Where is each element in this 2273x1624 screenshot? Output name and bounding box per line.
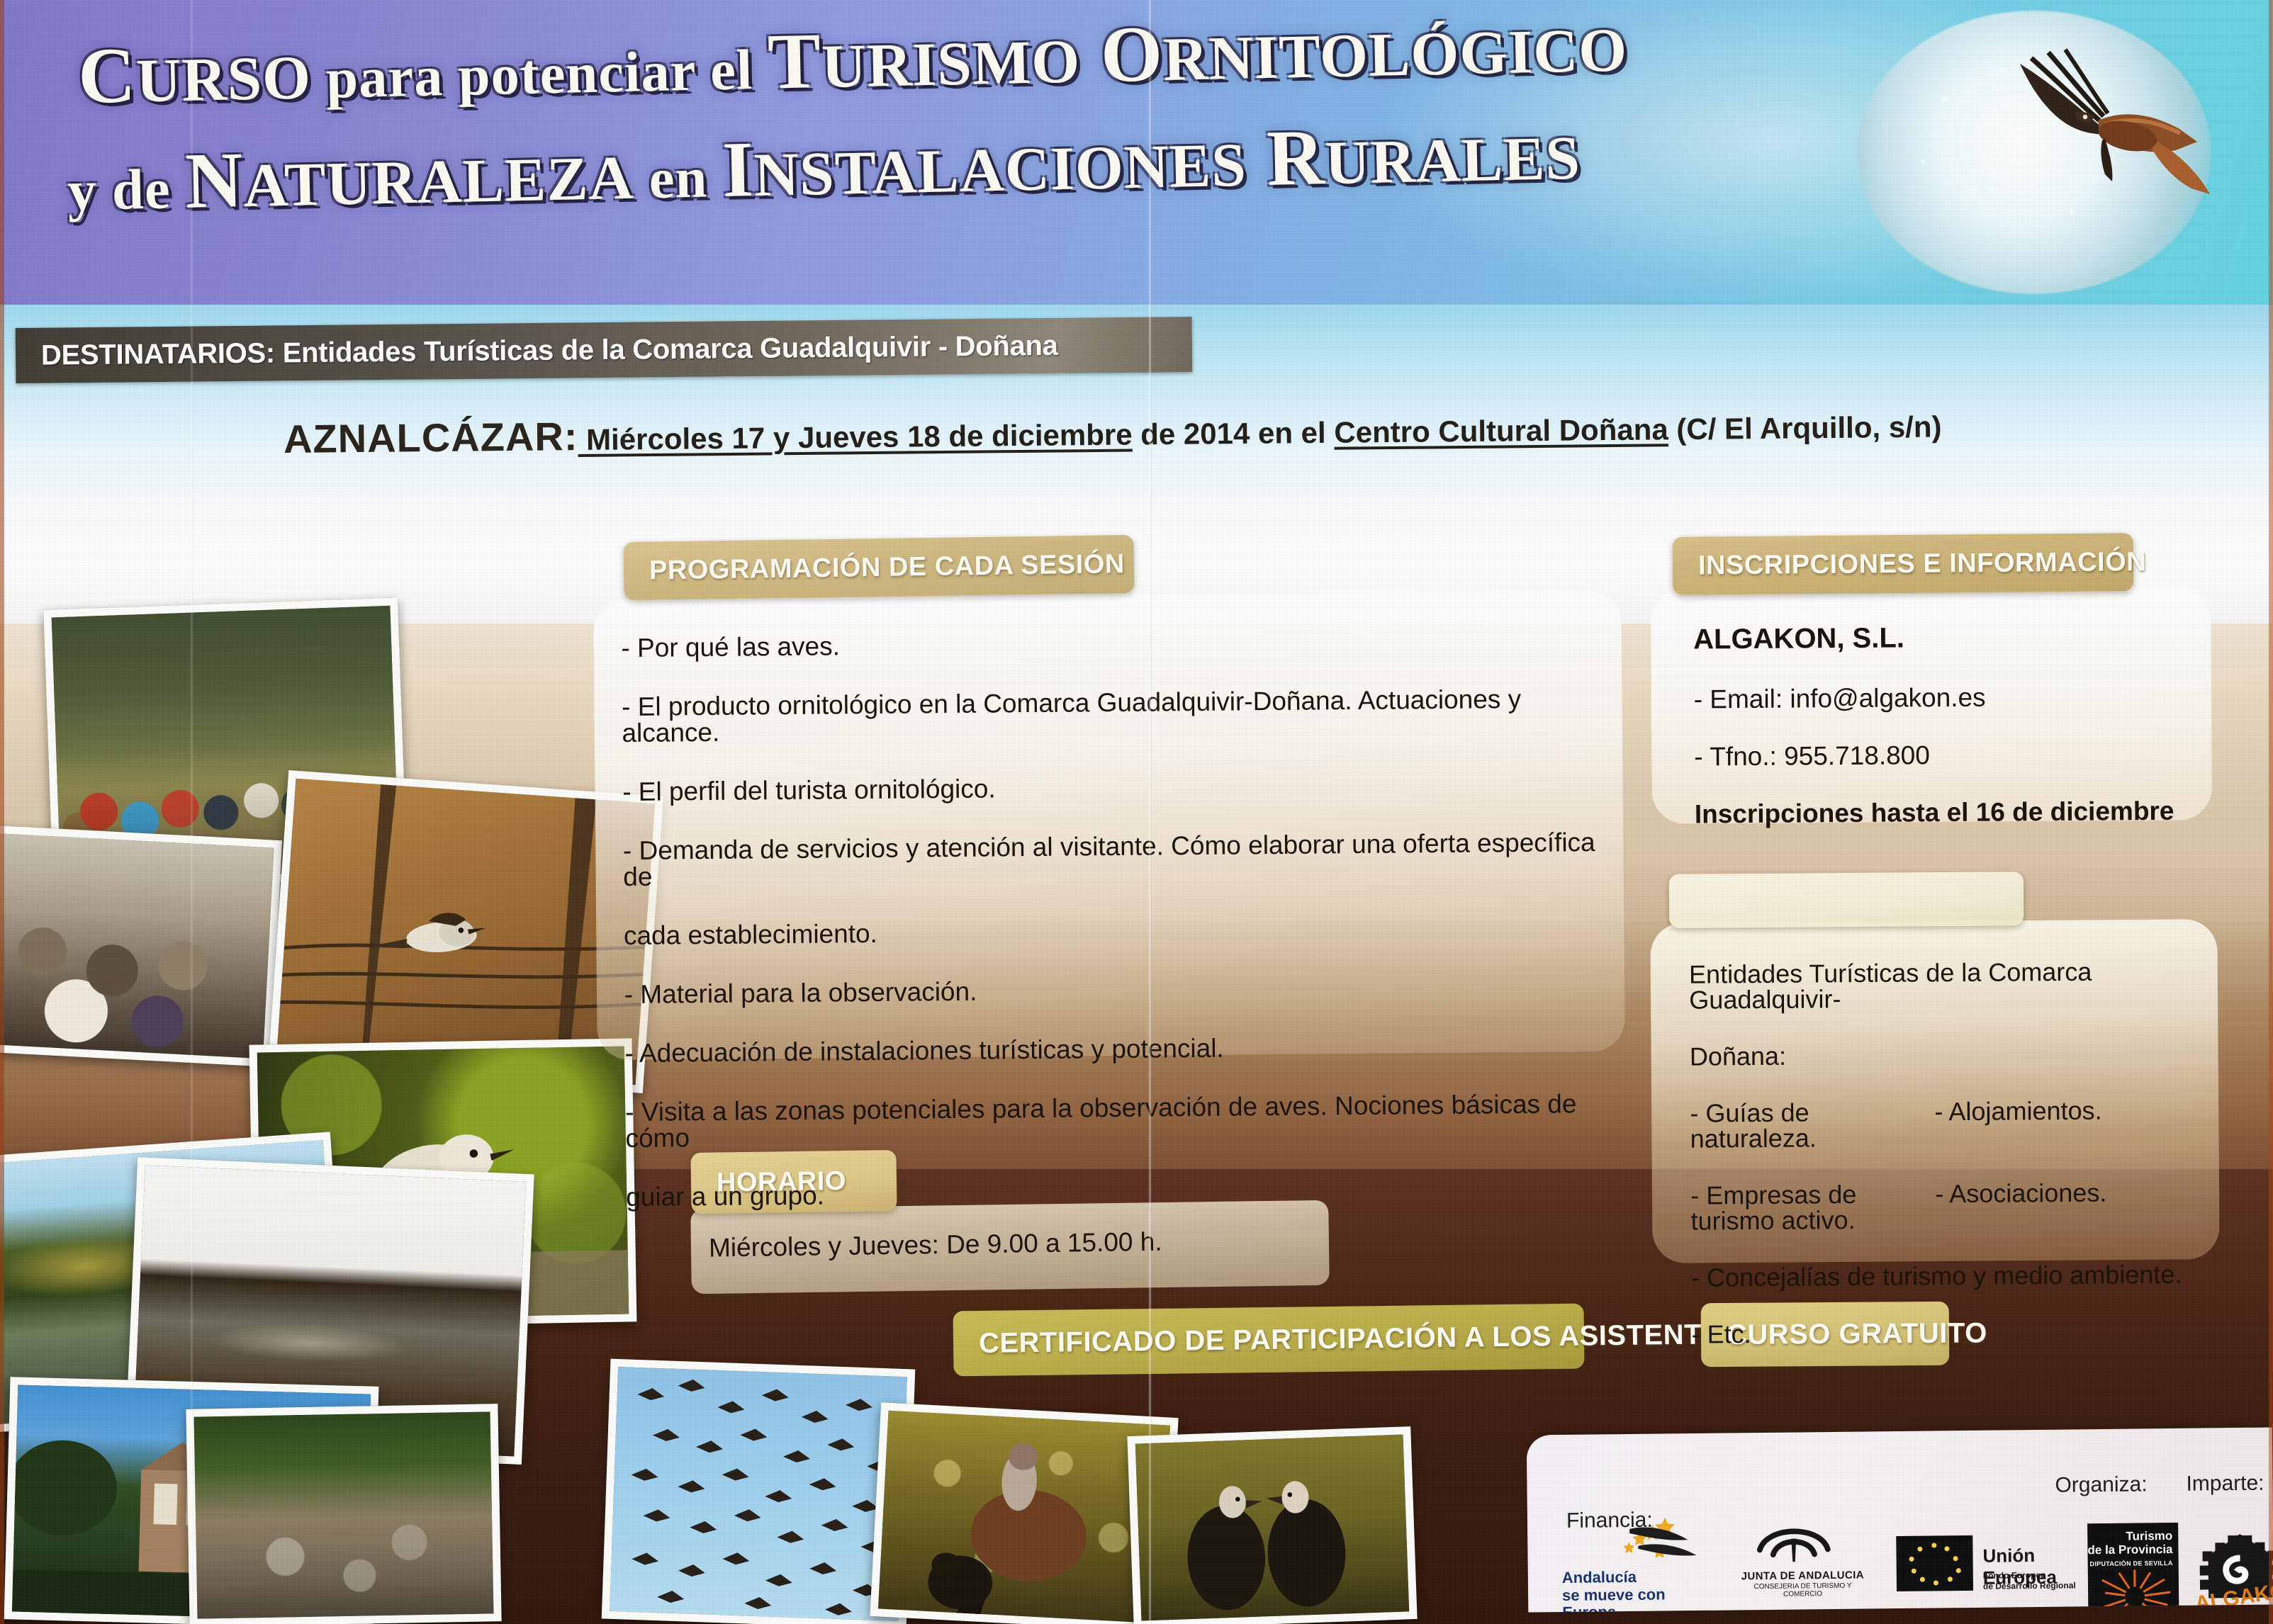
scan-edge-left [0,0,4,1624]
programacion-header-label: PROGRAMACIÓN DE CADA SESIÓN [624,549,1125,587]
junta-de-andalucia-logo: JUNTA DE ANDALUCIA CONSEJERIA DE TURISMO… [1740,1531,1865,1603]
poster-title: CURSO para potenciar el TURISMO ORNITOLÓ… [0,14,2055,207]
entidades-item: - Alojamientos. [1934,1098,2102,1151]
dateline-colon: : [563,414,578,458]
programacion-item: - Material para la observación. [624,973,1603,1008]
andalucia-se-mueve-con-europa-logo: Andalucía se mueve con Europa [1561,1540,1714,1605]
entidades-row: - Empresas de turismo activo. - Asociaci… [1690,1179,2229,1234]
dateline-address: (C/ El Arquillo, s/n) [1668,410,1941,446]
turismo-logo-line-3: DIPUTACIÓN DE SEVILLA [2089,1560,2172,1567]
union-europea-logo: Unión Europea Fondo Europeo de Desarroll… [1896,1528,2088,1601]
entidades-item: - Etc. [1692,1318,2230,1347]
turismo-logo-line-1: Turismo [2126,1529,2172,1543]
entidades-item: - Concejalías de turismo y medio ambient… [1691,1261,2230,1290]
programacion-item: - Adecuación de instalaciones turísticas… [624,1032,1603,1066]
junta-logo-line-2: CONSEJERIA DE TURISMO Y COMERCIO [1753,1582,1851,1598]
inscripciones-header-label: INSCRIPCIONES E INFORMACIÓN [1673,547,2146,582]
union-europea-sub-2: de Desarrollo Regional [1983,1580,2076,1591]
andalucia-logo-line-2: se mueve con Europa [1562,1585,1666,1612]
programacion-item-cont: cada establecimiento. [624,914,1602,949]
scan-edge-right [2269,0,2273,1624]
entidades-intro-line-2: Doñana: [1690,1040,2228,1069]
dateline-city: AZNALCÁZAR [284,414,564,461]
programacion-header: PROGRAMACIÓN DE CADA SESIÓN [623,535,1134,600]
dateline-dates: Miércoles 17 y Jueves 18 de diciembre [578,418,1133,457]
turismo-logo-line-2: de la Provincia [2087,1543,2172,1557]
dateline-connector: en el [1250,416,1335,450]
organiza-label: Organiza: [2055,1472,2147,1497]
algakon-logo: ALGAKON [2187,1526,2273,1612]
title-line-1: CURSO para potenciar el TURISMO ORNITOLÓ… [0,0,2056,121]
entidades-row: - Guías de naturaleza. - Alojamientos. [1690,1097,2228,1151]
inscripciones-deadline: Inscripciones hasta el 16 de diciembre [1695,797,2205,827]
destinatarios-text: DESTINATARIOS: Entidades Turísticas de l… [16,329,1058,371]
inscripciones-organization: ALGAKON, S.L. [1693,621,2204,653]
entidades-item: - Guías de naturaleza. [1690,1099,1934,1151]
inscripciones-header: INSCRIPCIONES E INFORMACIÓN [1673,533,2134,595]
programacion-item: - Demanda de servicios y atención al vis… [623,829,1602,890]
programacion-list: - Por qué las aves. - El producto ornito… [621,626,1604,1243]
footer-logo-bar: Financia: Organiza: Imparte: Andalucía [1527,1427,2273,1612]
inscripciones-phone[interactable]: - Tfno.: 955.718.800 [1694,740,2204,769]
photo-classroom-session [0,825,282,1067]
junta-logo-line-1: JUNTA DE ANDALUCIA [1741,1569,1864,1583]
andalucia-logo-line-1: Andalucía [1562,1568,1637,1586]
entidades-item: - Asociaciones. [1935,1180,2107,1233]
destinatarios-value: Entidades Turísticas de la Comarca Guada… [275,329,1058,368]
programacion-item: - Por qué las aves. [621,626,1599,661]
dateline-venue: Centro Cultural Doñana [1334,412,1668,449]
entidades-body: Entidades Turísticas de la Comarca Guada… [1689,958,2230,1378]
programacion-item: - El producto ornitológico en la Comarca… [622,685,1600,746]
programacion-item: - Visita a las zonas potenciales para la… [625,1090,1604,1151]
programacion-item: - El perfil del turista ornitológico. [622,770,1600,805]
poster-canvas: CURSO para potenciar el TURISMO ORNITOLÓ… [0,0,2273,1624]
entidades-item: - Empresas de turismo activo. [1690,1181,1935,1234]
certificado-badge: CERTIFICADO DE PARTICIPACIÓN A LOS ASIST… [953,1304,1584,1377]
photo-stone-path [186,1404,501,1624]
imparte-label: Imparte: [2186,1472,2264,1496]
union-europea-sub-1: Fondo Europeo [1983,1570,2046,1581]
entidades-intro-line-1: Entidades Turísticas de la Comarca Guada… [1689,958,2228,1013]
programacion-item-cont: guiar a un grupo. [626,1175,1604,1210]
inscripciones-email[interactable]: - Email: info@algakon.es [1694,682,2204,712]
destinatarios-label: DESTINATARIOS: [41,337,275,371]
destinatarios-bar: DESTINATARIOS: Entidades Turísticas de l… [16,317,1193,383]
photo-flock-of-geese [602,1359,916,1624]
inscripciones-body: ALGAKON, S.L. - Email: info@algakon.es -… [1693,621,2205,827]
turismo-de-la-provincia-logo: Turismo de la Provincia DIPUTACIÓN DE SE… [2087,1523,2179,1613]
entidades-header [1669,872,2024,927]
photo-two-vultures [1127,1426,1417,1624]
dateline-year: de 2014 [1132,417,1250,451]
